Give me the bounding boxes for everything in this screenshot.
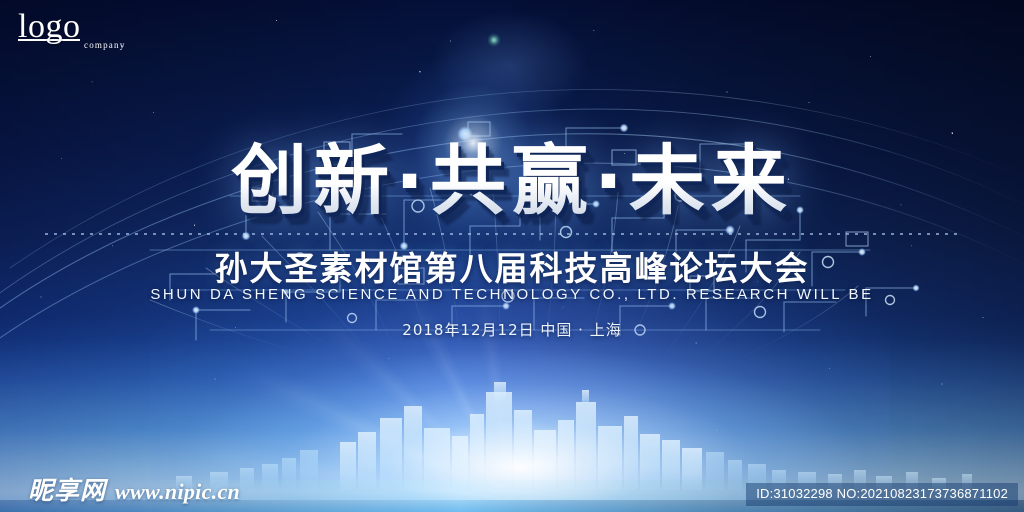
site-watermark[interactable]: 昵享网 www.nipic.cn bbox=[28, 477, 240, 504]
asset-id-bar: ID:31032298 NO:20210823173736871102 bbox=[746, 483, 1018, 506]
watermark-url: www.nipic.cn bbox=[115, 480, 240, 504]
brand-logo[interactable]: logo company bbox=[18, 10, 198, 58]
logo-subtext: company bbox=[84, 40, 125, 50]
logo-wordmark: logo bbox=[18, 10, 198, 44]
main-headline: 创新·共赢·未来 bbox=[0, 139, 1024, 223]
dotted-divider bbox=[45, 233, 960, 235]
watermark-brand-cn: 昵享网 bbox=[28, 477, 106, 504]
poster-canvas: logo company 创新·共赢·未来 孙大圣素材馆第八届科技高峰论坛大会 … bbox=[0, 0, 1024, 512]
subtitle-english: SHUN DA SHENG SCIENCE AND TECHNOLOGY CO.… bbox=[0, 286, 1024, 304]
date-location-line: 2018年12月12日 中国 · 上海 bbox=[0, 320, 1024, 340]
subtitle-chinese: 孙大圣素材馆第八届科技高峰论坛大会 bbox=[0, 250, 1024, 288]
